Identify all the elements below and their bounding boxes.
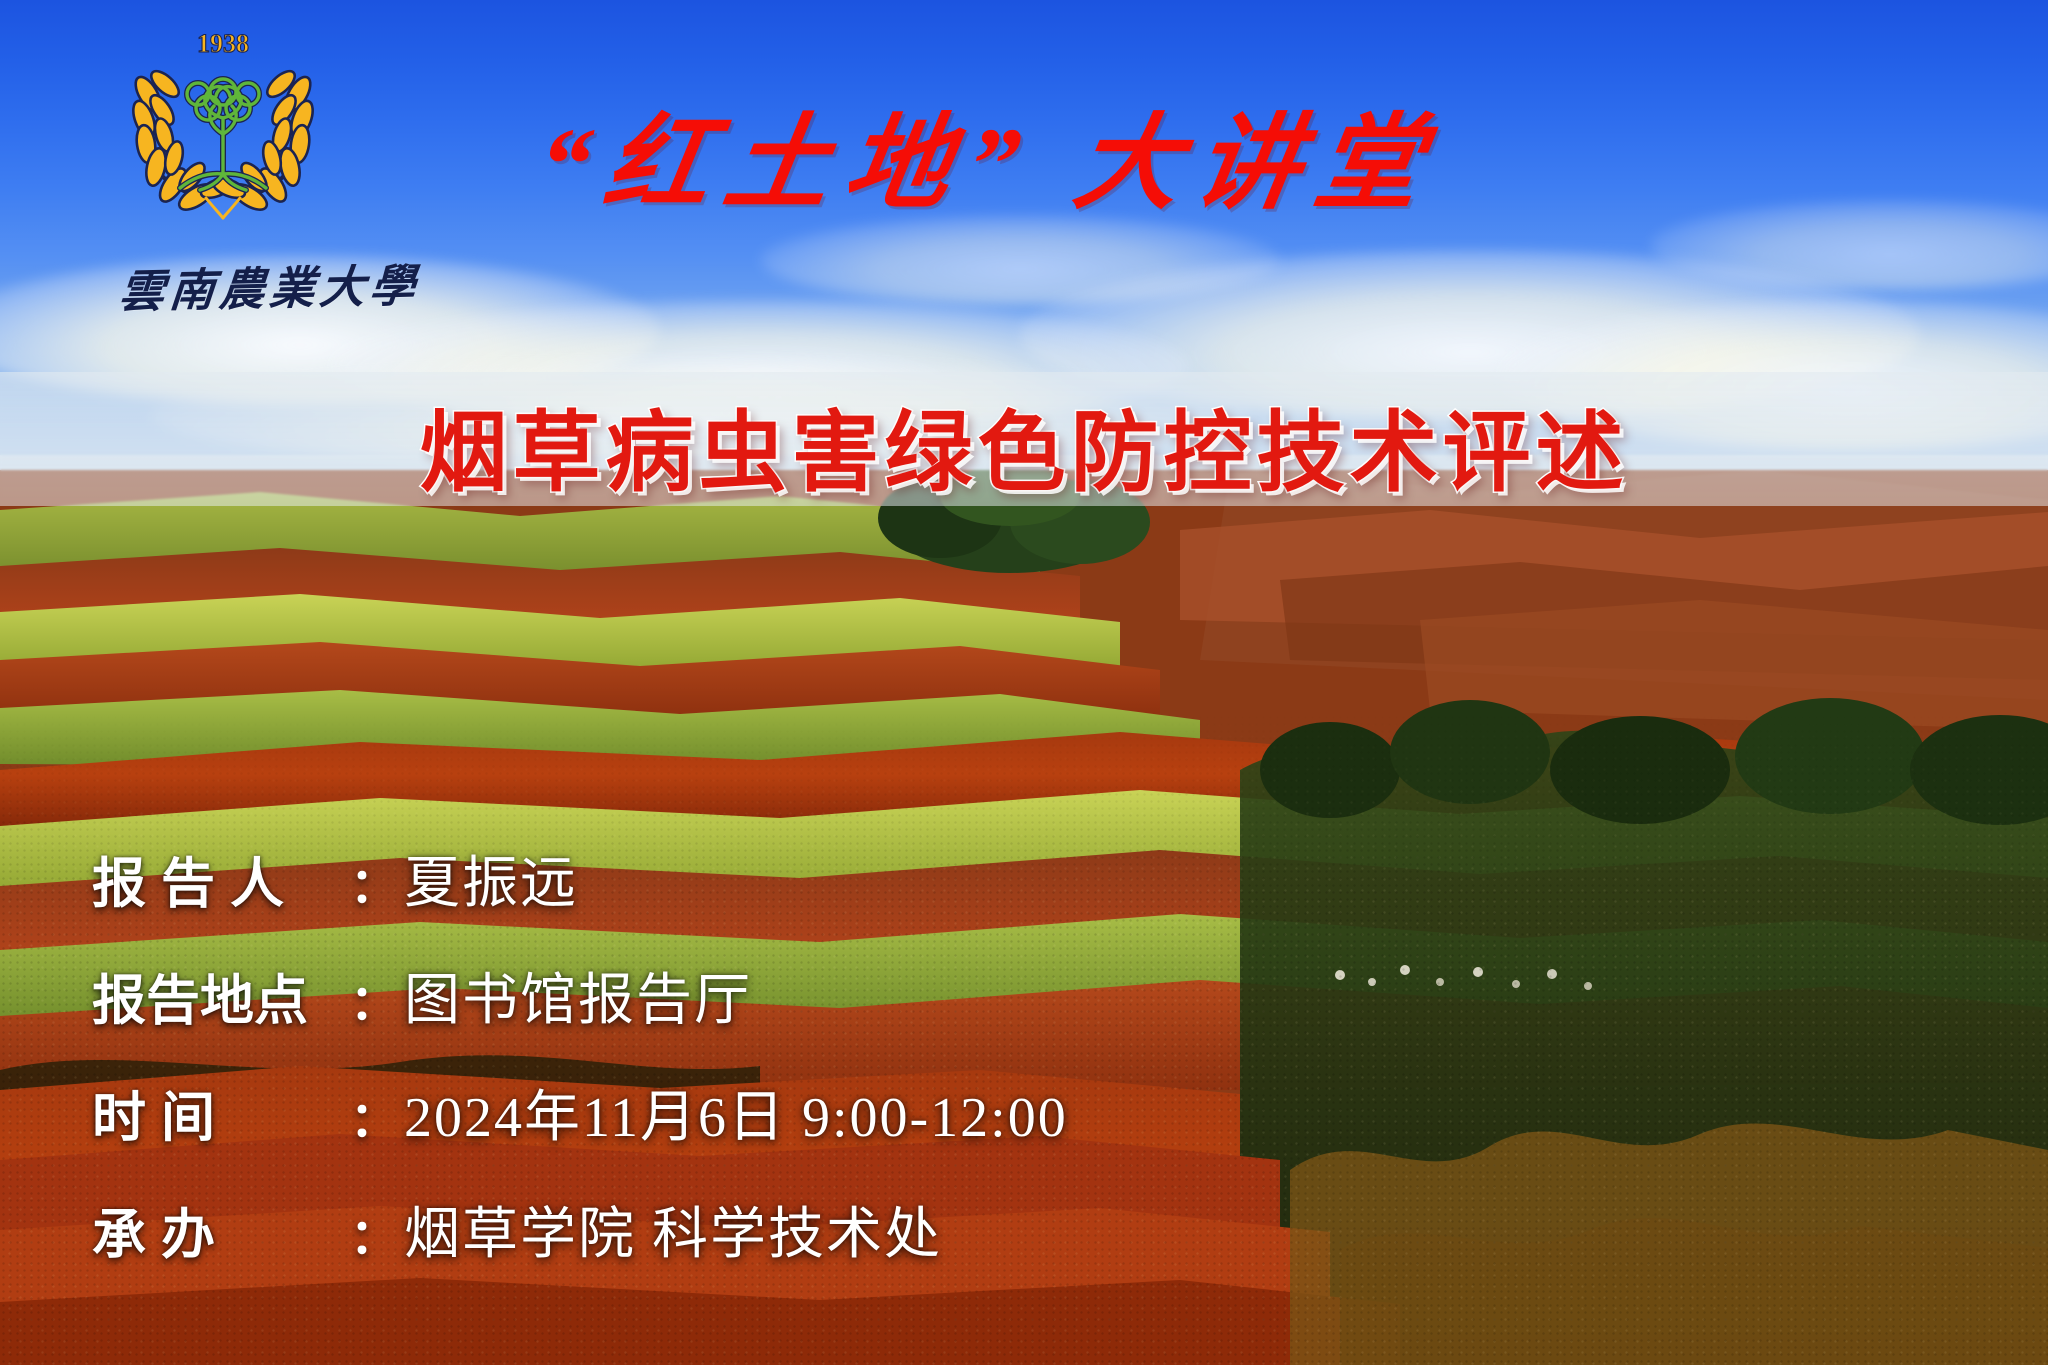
university-name: 雲南農業大學 xyxy=(117,249,443,321)
detail-colon: ： xyxy=(350,846,398,916)
detail-label-time: 时 间 xyxy=(92,1073,350,1152)
detail-row-venue: 报告地点 ： 图书馆报告厅 xyxy=(92,955,1068,1036)
detail-colon: ： xyxy=(350,1080,398,1150)
lecture-details: 报 告 人 ： 夏振远 报告地点 ： 图书馆报告厅 时 间 ： 2024年11月… xyxy=(92,838,1068,1306)
logo-year-text: 1938 xyxy=(197,29,249,58)
detail-colon: ： xyxy=(350,1197,398,1267)
lecture-poster: 1938 雲南農業大學 “红土地” 大讲堂 烟草病虫害绿色防控技术评述 报 告 … xyxy=(0,0,2048,1365)
detail-value-speaker: 夏振远 xyxy=(404,838,578,919)
detail-row-speaker: 报 告 人 ： 夏振远 xyxy=(92,838,1068,919)
university-logo-emblem: 1938 xyxy=(118,22,328,222)
detail-row-time: 时 间 ： 2024年11月6日 9:00-12:00 xyxy=(92,1072,1068,1153)
lecture-main-title: 烟草病虫害绿色防控技术评述 xyxy=(0,382,2048,509)
detail-row-organizer: 承 办 ： 烟草学院 科学技术处 xyxy=(92,1189,1068,1270)
lecture-series-title: “红土地” 大讲堂 xyxy=(528,78,1450,229)
detail-label-organizer: 承 办 xyxy=(92,1190,350,1269)
detail-colon: ： xyxy=(350,963,398,1033)
detail-value-time: 2024年11月6日 9:00-12:00 xyxy=(404,1072,1068,1153)
detail-value-organizer: 烟草学院 科学技术处 xyxy=(404,1189,942,1270)
detail-value-venue: 图书馆报告厅 xyxy=(404,955,752,1036)
detail-label-venue: 报告地点 xyxy=(92,956,350,1035)
detail-label-speaker: 报 告 人 xyxy=(92,839,350,918)
